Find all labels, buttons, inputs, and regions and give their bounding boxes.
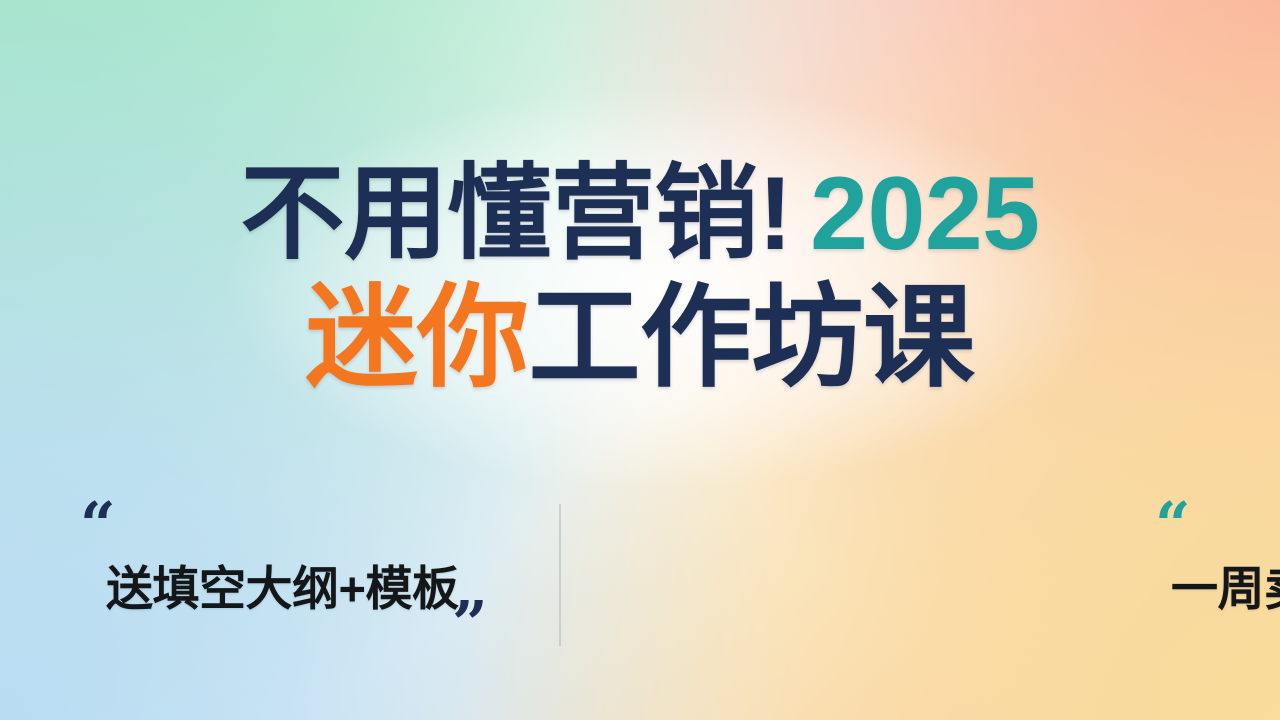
quote-close-icon: ” xyxy=(452,593,488,655)
headline-line-2: 迷你工作坊课 xyxy=(0,282,1280,394)
caption-block-right: “ 一周卖课赚现金、圈客户 ” xyxy=(559,492,1280,667)
caption-block-left: “ 送填空大纲+模板 ” xyxy=(0,492,559,667)
promo-poster: 不用懂营销!2025 迷你工作坊课 “ 送填空大纲+模板 ” “ 一周卖课赚现金… xyxy=(0,0,1280,720)
headline-line-1: 不用懂营销!2025 xyxy=(0,162,1280,266)
caption-right-text: 一周卖课赚现金、圈客户 xyxy=(1171,550,1280,619)
headline-segment-orange: 迷你 xyxy=(306,275,529,400)
headline: 不用懂营销!2025 迷你工作坊课 xyxy=(0,162,1280,394)
caption-left-text: 送填空大纲+模板 xyxy=(106,550,458,619)
caption-strip: “ 送填空大纲+模板 ” “ 一周卖课赚现金、圈客户 ” xyxy=(0,492,1280,667)
quote-open-icon: “ xyxy=(80,494,116,556)
headline-segment-navy-2: 工作坊课 xyxy=(529,275,975,400)
headline-segment-year: 2025 xyxy=(810,156,1039,272)
headline-segment-navy-1: 不用懂营销! xyxy=(241,156,793,272)
caption-divider xyxy=(559,504,561,646)
quote-open-icon: “ xyxy=(1155,494,1191,556)
